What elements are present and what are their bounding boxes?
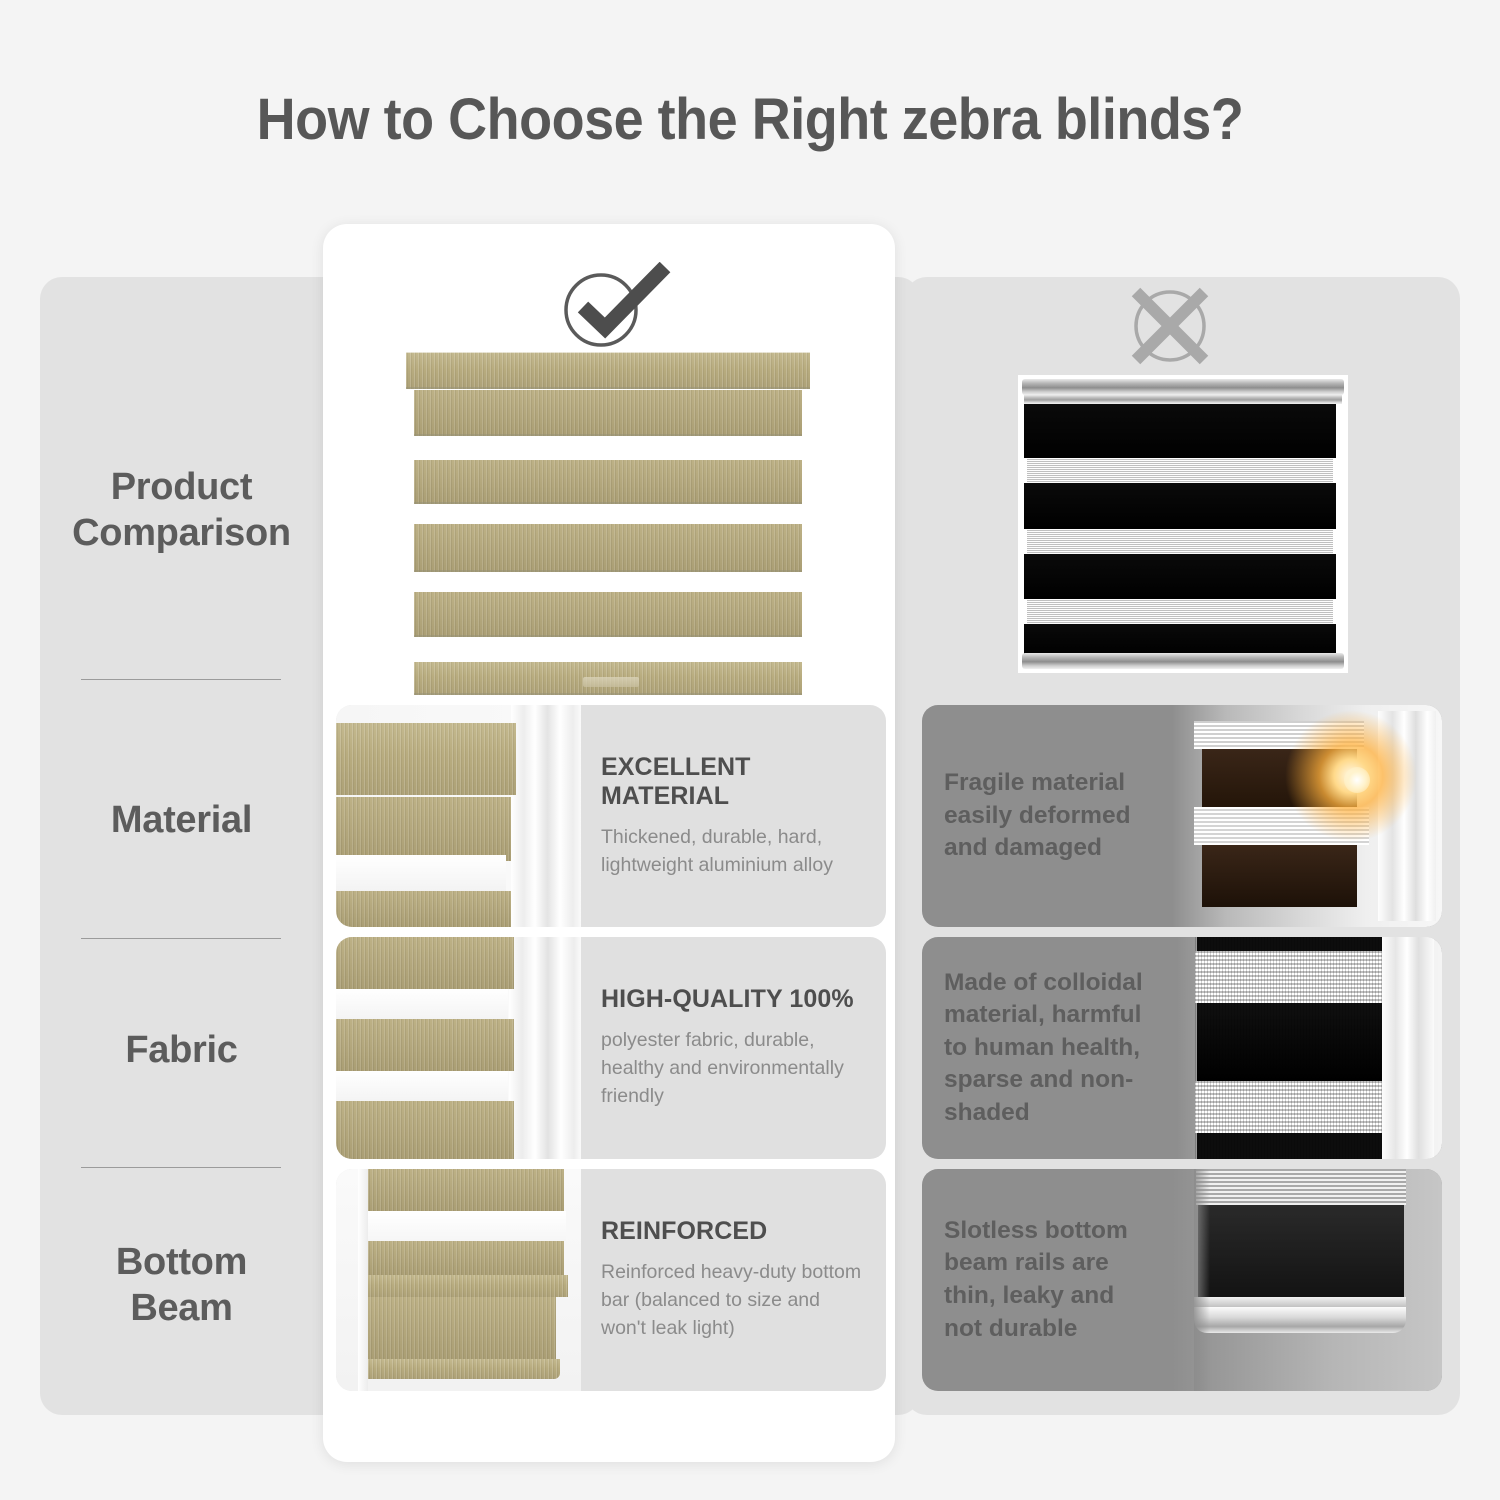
page-title: How to Choose the Right zebra blinds? — [53, 86, 1448, 153]
good-product-hero-image — [403, 352, 813, 700]
label-line-1: Fabric — [125, 1027, 237, 1073]
bad-feature-row-bottom-beam: Slotless bottom beam rails are thin, lea… — [922, 1169, 1442, 1391]
criteria-divider-3 — [81, 1167, 281, 1168]
good-fabric-heading: HIGH-QUALITY 100% — [601, 985, 866, 1014]
good-material-heading: EXCELLENT MATERIAL — [601, 753, 866, 811]
bad-bottom-beam-image — [1172, 1169, 1442, 1391]
bad-feature-row-fabric: Made of colloidal material, harmful to h… — [922, 937, 1442, 1159]
criteria-label-product-comparison: Product Comparison — [40, 440, 323, 580]
criteria-label-bottom-beam: Bottom Beam — [40, 1215, 323, 1355]
good-bottom-beam-heading: REINFORCED — [601, 1217, 866, 1246]
label-line-2: Comparison — [72, 512, 291, 554]
bad-product-hero-image — [1018, 375, 1348, 673]
good-feature-row-material: EXCELLENT MATERIAL Thickened, durable, h… — [336, 705, 886, 927]
good-feature-row-fabric: HIGH-QUALITY 100% polyester fabric, dura… — [336, 937, 886, 1159]
circle-cross-icon — [1126, 282, 1214, 370]
bad-material-image — [1172, 705, 1442, 927]
circle-check-icon — [553, 262, 671, 352]
label-line-1: Bottom — [116, 1241, 247, 1283]
good-material-image — [336, 705, 581, 927]
infographic-root: How to Choose the Right zebra blinds? Pr… — [0, 0, 1500, 1500]
good-fabric-image — [336, 937, 581, 1159]
bad-feature-row-material: Fragile material easily deformed and dam… — [922, 705, 1442, 927]
good-bottom-beam-image — [336, 1169, 581, 1391]
bad-fabric-text: Made of colloidal material, harmful to h… — [944, 967, 1157, 1130]
bad-fabric-image — [1177, 937, 1442, 1159]
label-line-1: Product — [111, 466, 252, 508]
label-line-1: Material — [111, 797, 252, 843]
criteria-divider-2 — [81, 938, 281, 939]
label-line-2: Beam — [130, 1287, 232, 1329]
bad-bottom-beam-text: Slotless bottom beam rails are thin, lea… — [944, 1215, 1152, 1345]
criteria-label-material: Material — [40, 780, 323, 860]
bad-material-text: Fragile material easily deformed and dam… — [944, 767, 1152, 865]
good-material-body: Thickened, durable, hard, lightweight al… — [601, 824, 866, 879]
good-fabric-body: polyester fabric, durable, healthy and e… — [601, 1027, 866, 1110]
criteria-divider-1 — [81, 679, 281, 680]
good-bottom-beam-body: Reinforced heavy-duty bottom bar (balanc… — [601, 1259, 866, 1342]
criteria-label-column: Product Comparison Material Fabric Botto… — [40, 277, 323, 1415]
criteria-label-fabric: Fabric — [40, 1010, 323, 1090]
good-feature-row-bottom-beam: REINFORCED Reinforced heavy-duty bottom … — [336, 1169, 886, 1391]
